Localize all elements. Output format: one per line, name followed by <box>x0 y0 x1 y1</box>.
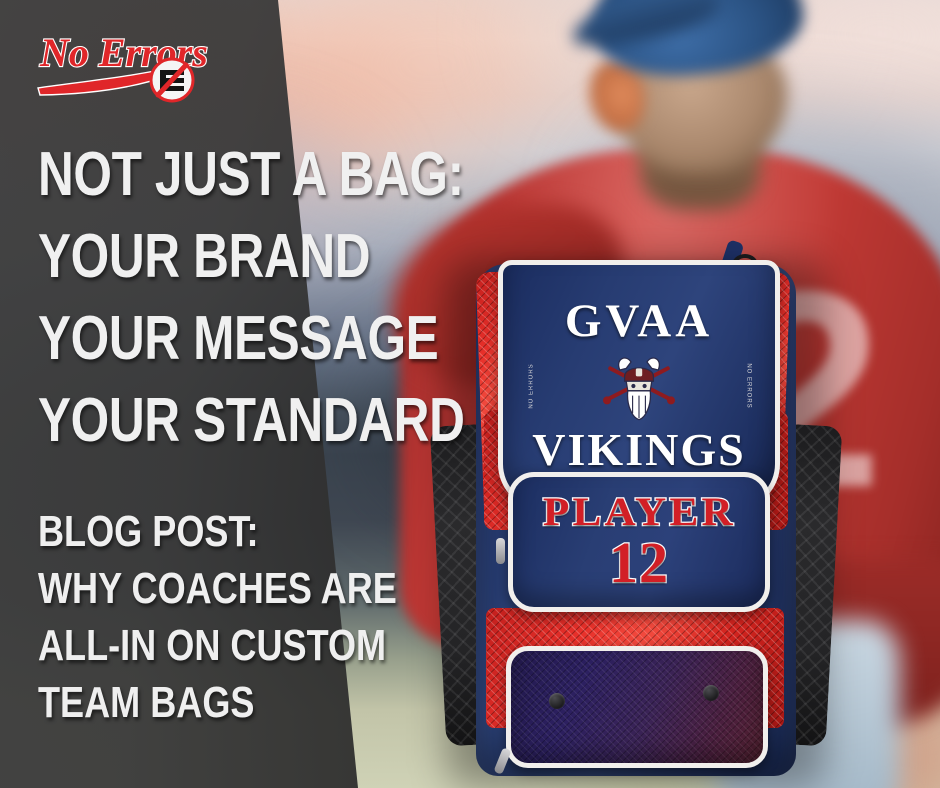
team-name-text: VIKINGS <box>532 427 745 473</box>
viking-head-crossed-bats-icon <box>591 349 687 423</box>
headline-line-1: NOT JUST A BAG: <box>38 134 382 216</box>
custom-team-bag: GVAA <box>436 250 836 788</box>
team-abbrev-text: GVAA <box>565 298 713 345</box>
no-e-badge-icon <box>151 59 193 101</box>
brand-tape: NO ERRORS <box>745 363 751 408</box>
subhead-line-3: ALL-IN ON CUSTOM <box>38 617 415 674</box>
brand-tape: NO ERRORS <box>529 363 535 408</box>
social-graphic-canvas: 2 GVAA <box>0 0 940 788</box>
blog-post-subtitle: BLOG POST: WHY COACHES ARE ALL-IN ON CUS… <box>38 503 415 731</box>
zipper-pull <box>496 538 505 564</box>
subhead-line-1: BLOG POST: <box>38 503 415 560</box>
player-name-pocket: PLAYER 12 <box>508 472 770 612</box>
grommet-icon <box>703 685 719 701</box>
player-number-text: 12 <box>609 534 669 592</box>
subhead-line-2: WHY COACHES ARE <box>38 560 415 617</box>
page-title: NOT JUST A BAG: YOUR BRAND YOUR MESSAGE … <box>38 134 382 462</box>
headline-line-4: YOUR STANDARD <box>38 380 382 462</box>
subhead-line-4: TEAM BAGS <box>38 674 415 731</box>
headline-line-3: YOUR MESSAGE <box>38 298 382 380</box>
player-label-text: PLAYER <box>542 492 735 532</box>
headline-line-2: YOUR BRAND <box>38 216 382 298</box>
grommet-icon <box>549 693 565 709</box>
bottom-gear-pocket <box>506 646 768 768</box>
no-errors-logo[interactable]: No Errors <box>32 22 224 106</box>
